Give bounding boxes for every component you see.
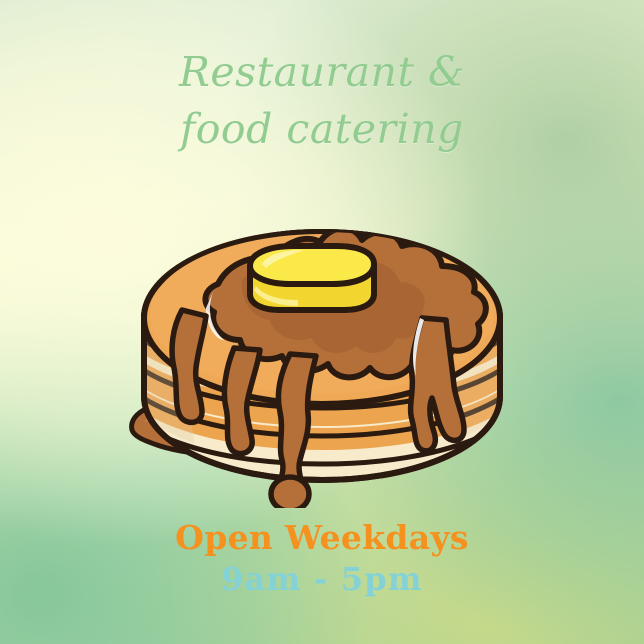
poster-canvas: Restaurant & food catering xyxy=(0,0,644,644)
butter-pat-shape xyxy=(250,246,374,310)
pancake-stack-illustration xyxy=(122,168,522,508)
open-hours-label: 9am - 5pm xyxy=(0,561,644,598)
open-days-label: Open Weekdays xyxy=(0,519,644,557)
footer-text-block: Open Weekdays 9am - 5pm xyxy=(0,519,644,598)
page-title: Restaurant & food catering xyxy=(0,44,644,157)
